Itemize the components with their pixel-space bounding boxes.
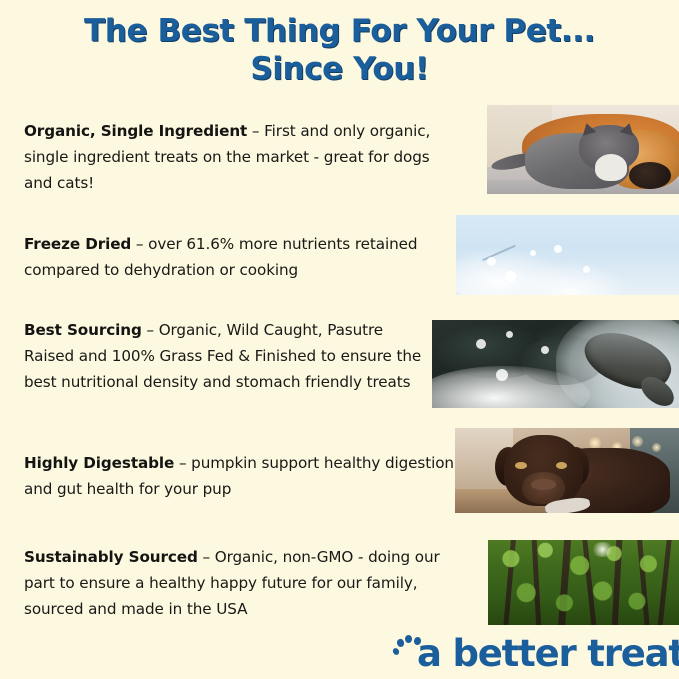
paw-print-icon bbox=[393, 635, 423, 673]
benefit-separator: – bbox=[174, 454, 191, 472]
brand-logo[interactable]: a better treat bbox=[393, 632, 679, 676]
photo-forest-canopy bbox=[488, 540, 679, 625]
labrador-eye-left bbox=[515, 462, 526, 469]
golden-retriever-muzzle bbox=[629, 162, 671, 189]
benefit-separator: – bbox=[247, 122, 264, 140]
bokeh-light bbox=[589, 437, 601, 449]
benefit-title: Best Sourcing bbox=[24, 321, 142, 339]
photo-chocolate-labrador bbox=[455, 428, 679, 513]
page-title: The Best Thing For Your Pet... Since You… bbox=[0, 12, 679, 88]
paw-toe bbox=[396, 638, 404, 647]
photo-cat-and-dog bbox=[487, 105, 679, 194]
photo-ice-crystals bbox=[456, 215, 679, 295]
water-spray bbox=[506, 331, 513, 338]
labrador-nose bbox=[531, 479, 556, 490]
ice-fleck bbox=[487, 257, 496, 266]
bokeh-light bbox=[632, 436, 643, 447]
paw-toe bbox=[405, 635, 412, 643]
page-title-line-1: The Best Thing For Your Pet... bbox=[84, 13, 595, 49]
paw-toe bbox=[413, 636, 422, 645]
foliage bbox=[488, 540, 679, 625]
benefit-item-freeze-dried: Freeze Dried – over 61.6% more nutrients… bbox=[24, 231, 448, 283]
paw-toe bbox=[392, 647, 401, 656]
benefit-separator: – bbox=[131, 235, 148, 253]
sky-gap bbox=[591, 542, 614, 557]
ice-fleck bbox=[530, 250, 536, 256]
benefit-item-sustainably-sourced: Sustainably Sourced – Organic, non-GMO -… bbox=[24, 544, 472, 622]
benefit-separator: – bbox=[198, 548, 215, 566]
benefit-item-best-sourcing: Best Sourcing – Organic, Wild Caught, Pa… bbox=[24, 317, 424, 395]
benefit-item-highly-digestable: Highly Digestable – pumpkin support heal… bbox=[24, 450, 454, 502]
benefit-separator: – bbox=[142, 321, 159, 339]
brand-wordmark: a better treat bbox=[417, 635, 679, 673]
benefit-title: Highly Digestable bbox=[24, 454, 174, 472]
benefit-title: Organic, Single Ingredient bbox=[24, 122, 247, 140]
photo-salmon-rapids bbox=[432, 320, 679, 408]
page-title-line-2: Since You! bbox=[0, 50, 679, 88]
ice-fleck bbox=[505, 271, 516, 282]
infographic-page: The Best Thing For Your Pet... Since You… bbox=[0, 0, 679, 679]
labrador-eye-right bbox=[556, 462, 567, 469]
cat-chest-fur bbox=[595, 154, 628, 181]
benefit-item-organic-single-ingredient: Organic, Single Ingredient – First and o… bbox=[24, 118, 456, 196]
benefit-title: Sustainably Sourced bbox=[24, 548, 198, 566]
benefit-title: Freeze Dried bbox=[24, 235, 131, 253]
